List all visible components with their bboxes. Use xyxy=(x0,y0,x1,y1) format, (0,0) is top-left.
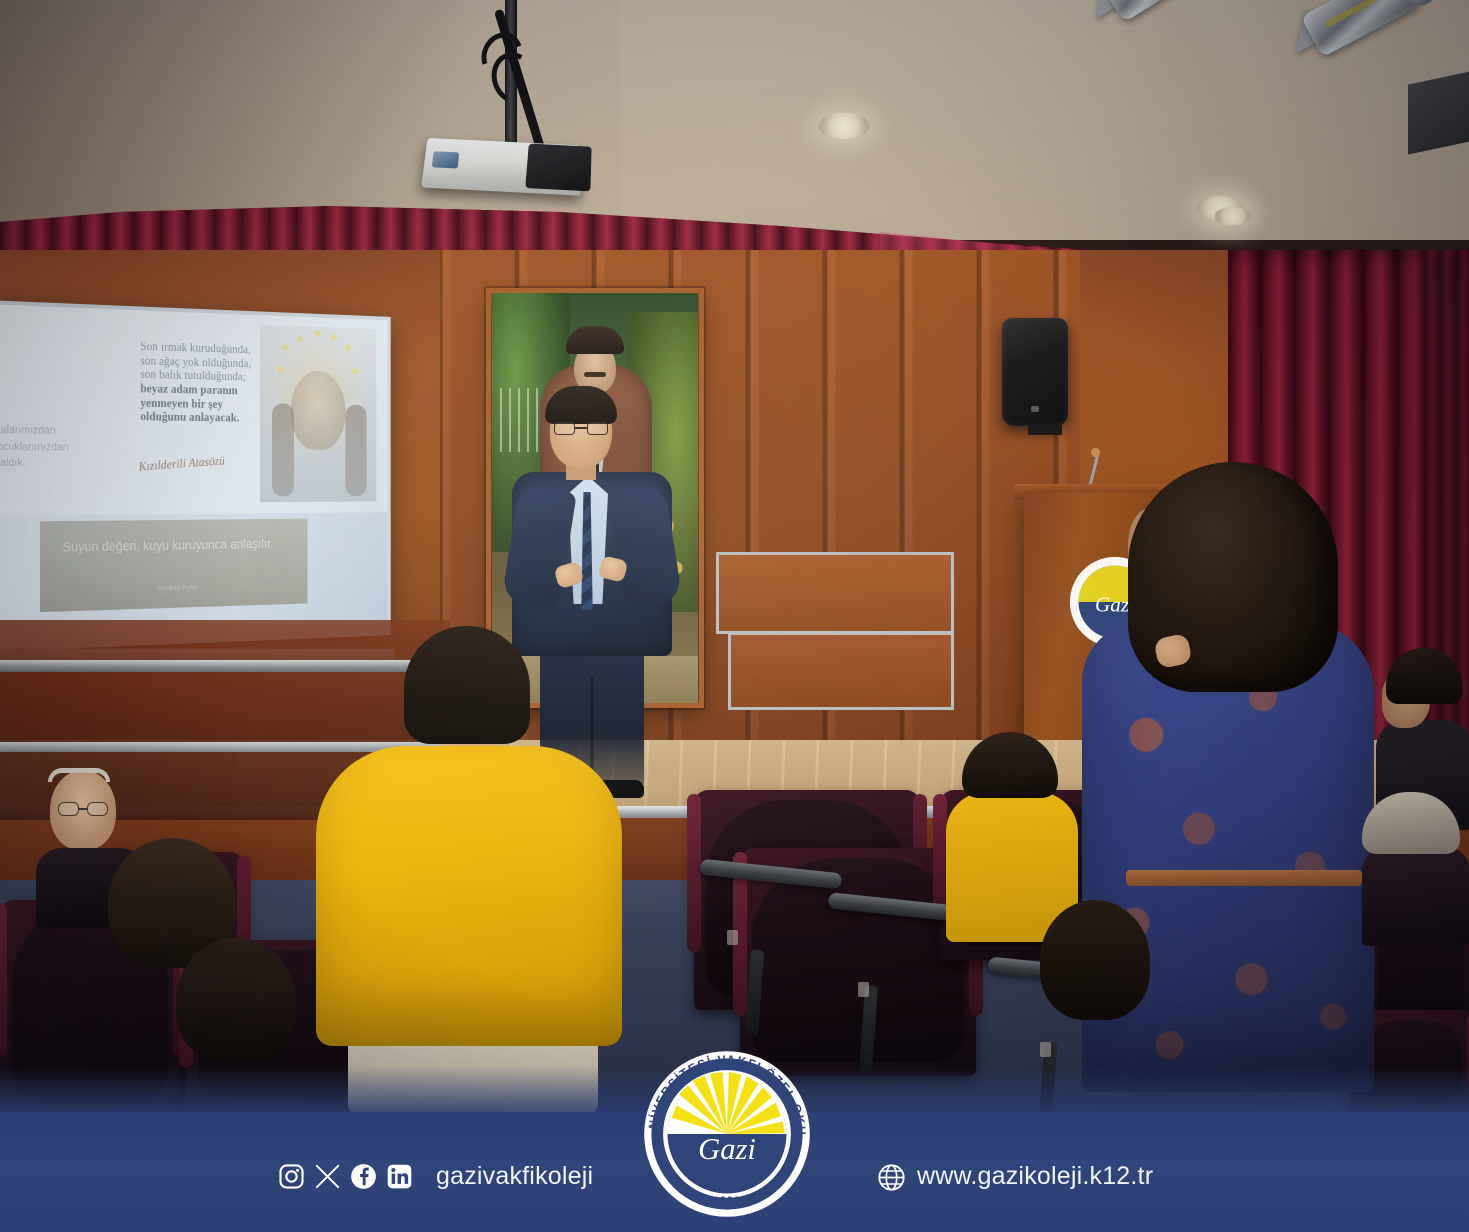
seat-number-tag xyxy=(1040,1042,1051,1057)
ceiling-light xyxy=(818,113,870,139)
ceiling-light xyxy=(1214,207,1252,225)
stage-wall-board xyxy=(728,632,954,710)
x-twitter-icon[interactable] xyxy=(314,1163,341,1190)
instagram-icon[interactable] xyxy=(278,1163,305,1190)
linkedin-icon[interactable] xyxy=(386,1163,413,1190)
school-seal-logo: Gazi GAZİ ÜNİVERSİTESİ VAKFI ÖZEL OKULLA… xyxy=(637,1044,817,1224)
slide-quote-attribution: Kızılderili Atasözü xyxy=(138,454,225,473)
slide-portrait-image xyxy=(260,325,376,503)
slide-partial-left-text: atalarımızdan çocuklarımızdan ç aldık. xyxy=(0,422,106,472)
audience-member-head xyxy=(1040,900,1150,1020)
eyeglasses-icon xyxy=(58,802,108,816)
screenshot-root: Son ırmak kuruduğunda, son ağaç yok oldu… xyxy=(0,0,1469,1232)
pa-speaker xyxy=(1002,318,1068,426)
audience-member-head xyxy=(176,938,296,1062)
seat-number-tag xyxy=(727,930,738,945)
svg-text:Gazi: Gazi xyxy=(698,1132,756,1166)
slide-secondary-quote: Suyun değeri, kuyu kuruyunca anlaşılır. xyxy=(63,535,286,556)
seat-number-tag xyxy=(858,982,869,997)
slide-quote-text: Son ırmak kuruduğunda, son ağaç yok oldu… xyxy=(140,339,255,425)
projector-rear-housing xyxy=(525,144,591,192)
eyeglasses-icon xyxy=(554,422,608,435)
social-handle-text[interactable]: gazivakfikoleji xyxy=(436,1162,593,1191)
website-link-group[interactable]: www.gazikoleji.k12.tr xyxy=(877,1162,1153,1191)
microphone-head xyxy=(1091,448,1100,457)
slide-upper-panel: Son ırmak kuruduğunda, son ağaç yok oldu… xyxy=(0,304,388,516)
stage-wall-board xyxy=(716,552,954,634)
audience-member-boy xyxy=(946,732,1078,942)
slide-secondary-attribution: Thomas Fuller xyxy=(40,581,307,595)
ceiling-vent xyxy=(1408,71,1469,154)
pa-speaker-bracket xyxy=(1028,424,1062,435)
globe-icon xyxy=(877,1163,904,1190)
slide-lower-panel: Suyun değeri, kuyu kuruyunca anlaşılır. … xyxy=(40,518,307,612)
facebook-icon[interactable] xyxy=(350,1163,377,1190)
svg-text:• 1998 •: • 1998 • xyxy=(704,1195,750,1207)
website-url-text[interactable]: www.gazikoleji.k12.tr xyxy=(917,1162,1153,1191)
projection-screen: Son ırmak kuruduğunda, son ağaç yok oldu… xyxy=(0,300,391,652)
face-shape xyxy=(291,370,346,450)
auditorium-photograph: Son ırmak kuruduğunda, son ağaç yok oldu… xyxy=(0,0,1469,1112)
audience-member-boy-yellow-shirt xyxy=(316,626,622,1112)
audience-member-grey-hair xyxy=(1362,792,1469,942)
social-links-group[interactable]: gazivakfikoleji xyxy=(278,1162,593,1191)
